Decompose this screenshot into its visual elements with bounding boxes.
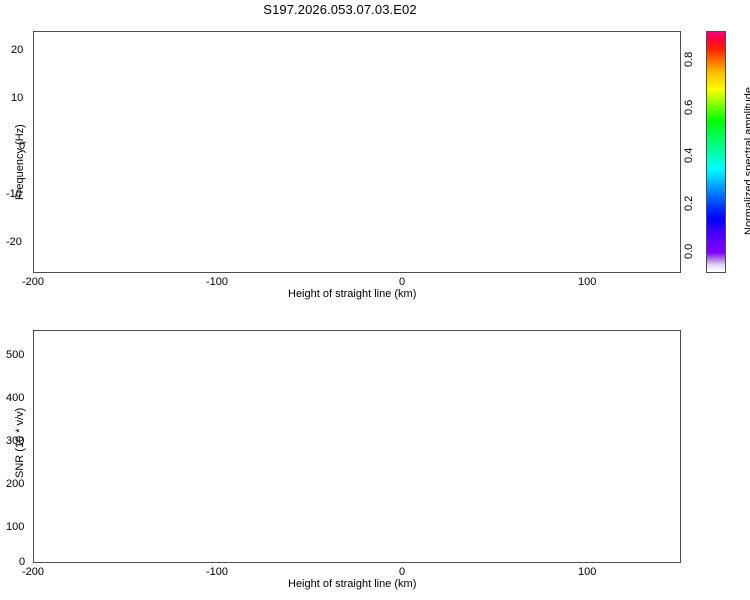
spectrogram-xtick-n100: -100 — [206, 276, 228, 288]
spectrogram-ytick-n10: -10 — [6, 188, 22, 200]
snr-xtick-0: 0 — [399, 566, 405, 578]
snr-xtick-n100: -100 — [206, 566, 228, 578]
colorbar-tick-0_2: 0.2 — [683, 196, 695, 211]
snr-ytick-100: 100 — [6, 521, 24, 533]
snr-ytick-400: 400 — [6, 392, 24, 404]
spectrogram-ytick-20: 20 — [11, 44, 23, 56]
snr-ytick-200: 200 — [6, 478, 24, 490]
snr-xtick-n200: -200 — [22, 566, 44, 578]
figure-root: S197.2026.053.07.03.E02 Frequency (Hz) H… — [0, 0, 750, 600]
spectrogram-xtick-n200: -200 — [22, 276, 44, 288]
snr-ytick-500: 500 — [6, 349, 24, 361]
colorbar-tick-0_8: 0.8 — [683, 52, 695, 67]
snr-xtick-100: 100 — [578, 566, 596, 578]
snr-xlabel: Height of straight line (km) — [288, 578, 416, 590]
colorbar-label: Normalized spectral amplitude — [743, 87, 750, 235]
colorbar — [706, 31, 726, 273]
snr-frame — [33, 330, 681, 563]
snr-ytick-300: 300 — [6, 435, 24, 447]
colorbar-tick-0_0: 0.0 — [683, 244, 695, 259]
spectrogram-ytick-n20: -20 — [6, 236, 22, 248]
colorbar-tick-0_4: 0.4 — [683, 148, 695, 163]
colorbar-tick-0_6: 0.6 — [683, 100, 695, 115]
spectrogram-xtick-0: 0 — [399, 276, 405, 288]
spectrogram-ytick-0: 0 — [19, 140, 25, 152]
spectrogram-xtick-100: 100 — [578, 276, 596, 288]
spectrogram-xlabel: Height of straight line (km) — [288, 288, 416, 300]
spectrogram-frame — [33, 31, 681, 273]
figure-title: S197.2026.053.07.03.E02 — [0, 2, 680, 17]
spectrogram-ytick-10: 10 — [11, 92, 23, 104]
